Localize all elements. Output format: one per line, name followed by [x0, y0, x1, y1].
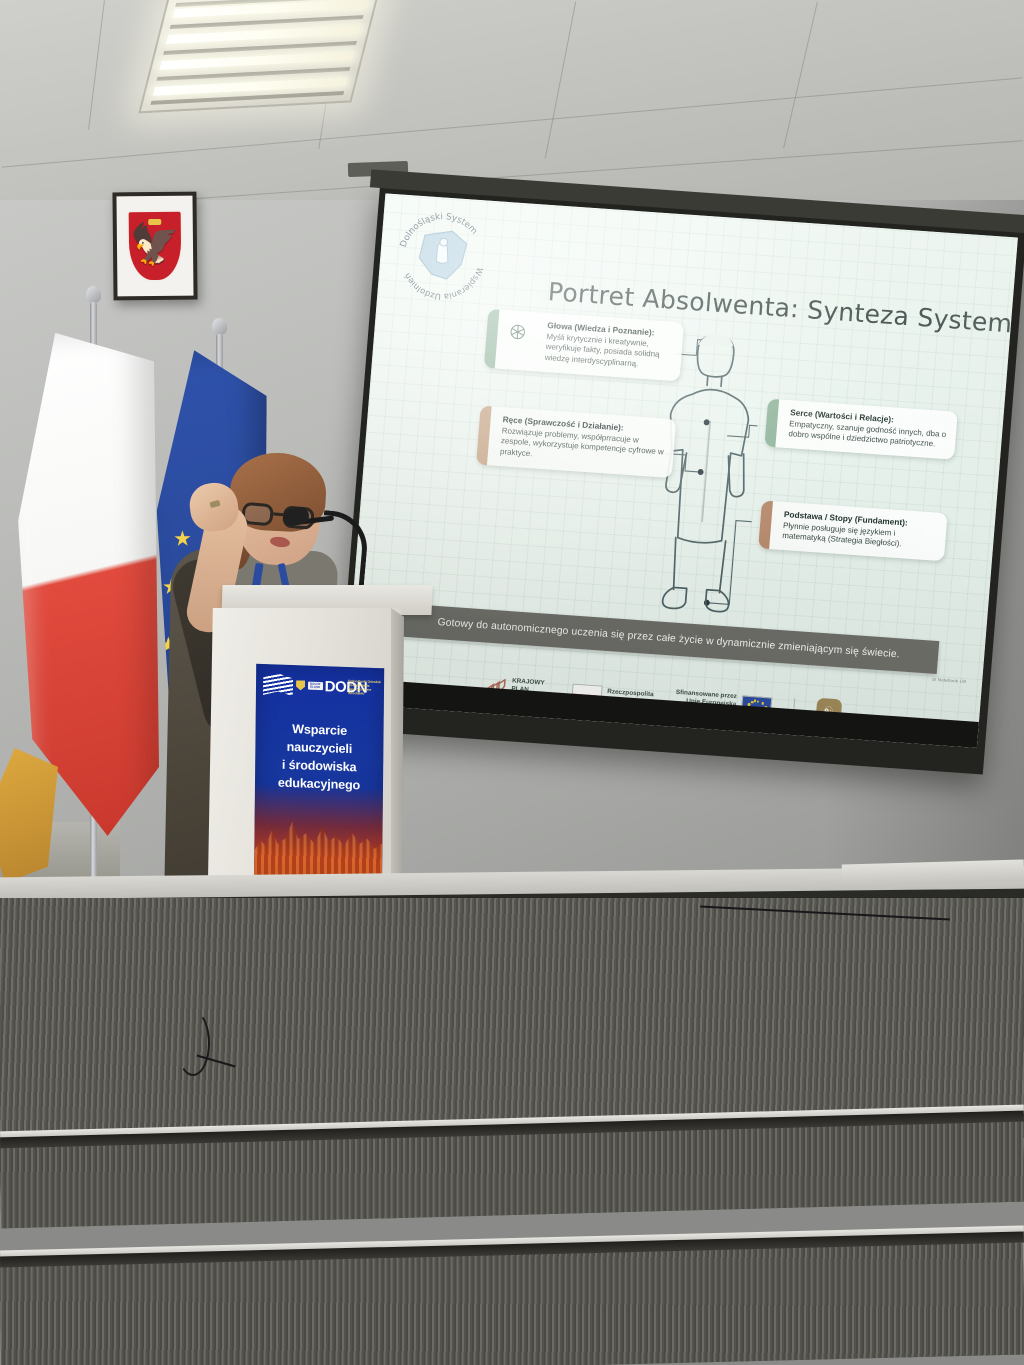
flagpole-finial-poland	[86, 286, 101, 303]
dolny-slask-shield-icon	[296, 680, 305, 690]
projection-screen: Dolnośląski System Wspierania Uzdolnień …	[336, 186, 1024, 774]
dolny-slask-mark: DOLNYŚLĄSK	[308, 682, 323, 691]
flagpole-finial-eu	[212, 318, 227, 335]
ceiling	[0, 0, 1024, 205]
polish-coat-of-arms-frame: 🦅	[112, 192, 197, 301]
card-feet-stripe	[758, 500, 773, 549]
podium-banner: DOLNYŚLĄSK DODN Dolnośląski Ośrodek Dosk…	[254, 664, 384, 906]
dswu-logo: Dolnośląski System Wspierania Uzdolnień	[391, 206, 494, 308]
screen-surface: Dolnośląski System Wspierania Uzdolnień …	[344, 193, 1018, 748]
brain-network-icon	[507, 321, 529, 342]
conference-presentation-photo: 🦅	[0, 0, 1024, 1365]
open-book-icon	[263, 673, 293, 696]
eagle-icon: 🦅	[130, 225, 180, 266]
dodn-full-name: Dolnośląski Ośrodek Doskonalenia Nauczyc…	[348, 679, 384, 697]
podium-power-cable	[176, 1010, 210, 1076]
card-heart-stripe	[764, 399, 779, 448]
presentation-slide: Dolnośląski System Wspierania Uzdolnień …	[344, 193, 1018, 748]
coat-of-arms-shield: 🦅	[127, 210, 184, 283]
ceiling-light-panel	[138, 0, 381, 113]
stage-floor	[0, 898, 1024, 1138]
crown-icon	[148, 219, 161, 225]
